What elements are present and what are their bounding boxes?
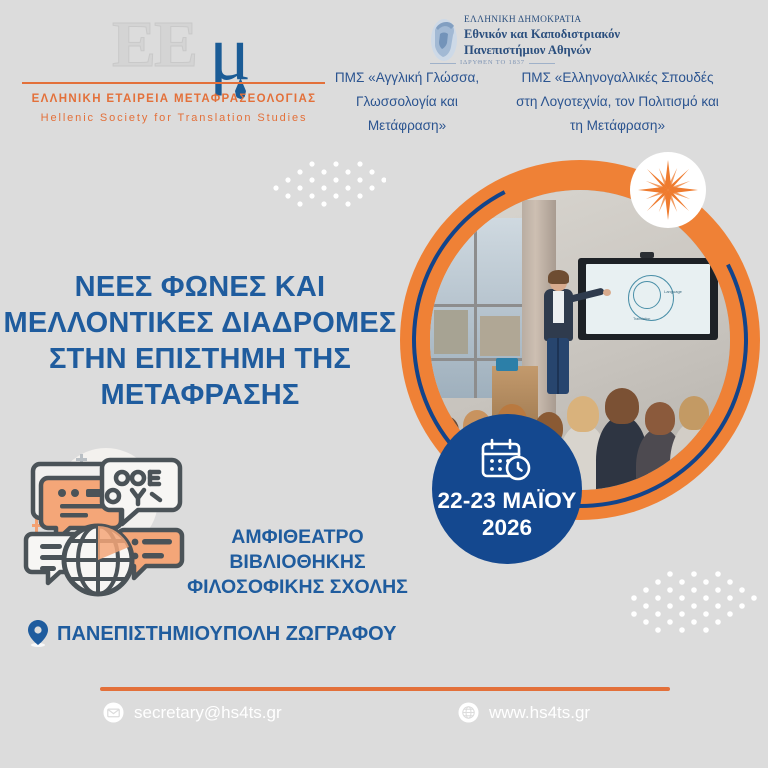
university-line-1: ΕΛΛΗΝΙΚΗ ΔΗΜΟΚΡΑΤΙΑ [464,15,581,25]
campus-label: ΠΑΝΕΠΙΣΤΗΜΙΟΥΠΟΛΗ ΖΩΓΡΑΦΟΥ [57,621,396,647]
logo-mu-text: μ [209,14,251,92]
globe-icon [458,702,479,723]
envelope-icon [103,702,124,723]
page-title: ΝΕΕΣ ΦΩΝΕΣ ΚΑΙ ΜΕΛΛΟΝΤΙΚΕΣ ΔΙΑΔΡΟΜΕΣ ΣΤΗ… [0,269,400,413]
footer-divider [100,687,670,691]
location-pin-icon [28,620,48,647]
eem-mark: EE μ [14,16,334,82]
university-logo: ΕΛΛΗΝΙΚΗ ΔΗΜΟΚΡΑΤΙΑ Εθνικόν και Καποδιστ… [430,14,630,68]
footer-email[interactable]: secretary@hs4ts.gr [103,702,282,723]
venue-name: ΑΜΦΙΘΕΑΤΡΟ ΒΙΒΛΙΟΘΗΚΗΣ ΦΙΛΟΣΟΦΙΚΗΣ ΣΧΟΛΗ… [185,525,410,600]
society-name-greek: ΕΛΛΗΝΙΚΗ ΕΤΑΙΡΕΙΑ ΜΕΤΑΦΡΑΣΕΟΛΟΓΙΑΣ [14,93,334,105]
event-year: 2026 [482,514,532,541]
date-badge: 22-23 ΜΑΪΟΥ 2026 [432,414,582,564]
campus-location: ΠΑΝΕΠΙΣΤΗΜΙΟΥΠΟΛΗ ΖΩΓΡΑΦΟΥ [28,620,448,647]
dot-pattern-top [268,152,386,222]
star-burst-icon [630,152,706,228]
dot-pattern-bottom [628,556,768,656]
society-name-english: Hellenic Society for Translation Studies [14,112,334,124]
footer-website[interactable]: www.hs4ts.gr [458,702,590,723]
university-line-3: Πανεπιστήμιον Αθηνών [464,43,591,58]
translation-illustration [18,438,188,598]
calendar-clock-icon [479,437,535,481]
speech-bubbles-globe-icon [18,438,188,598]
footer-website-text: www.hs4ts.gr [489,703,590,723]
programme-right-label: ΠΜΣ «Ελληνογαλλικές Σπουδές στη Λογοτεχν… [510,66,725,138]
logo-ee-text: EE [112,12,196,78]
sunburst-badge [630,152,706,228]
programme-left-label: ΠΜΣ «Αγγλική Γλώσσα, Γλωσσολογία και Μετ… [322,66,492,138]
university-founded-line: ΙΔΡΥΘΕΝ ΤΟ 1837 [460,59,525,66]
society-logo: EE μ ΕΛΛΗΝΙΚΗ ΕΤΑΙΡΕΙΑ ΜΕΤΑΦΡΑΣΕΟΛΟΓΙΑΣ … [14,16,334,134]
university-line-2: Εθνικόν και Καποδιστριακόν [464,27,620,42]
athena-helmet-icon [430,18,458,62]
event-dates: 22-23 ΜΑΪΟΥ [437,487,576,514]
footer-email-text: secretary@hs4ts.gr [134,703,282,723]
logo-divider [22,82,325,84]
conference-poster: EE μ ΕΛΛΗΝΙΚΗ ΕΤΑΙΡΕΙΑ ΜΕΤΑΦΡΑΣΕΟΛΟΓΙΑΣ … [0,0,768,768]
